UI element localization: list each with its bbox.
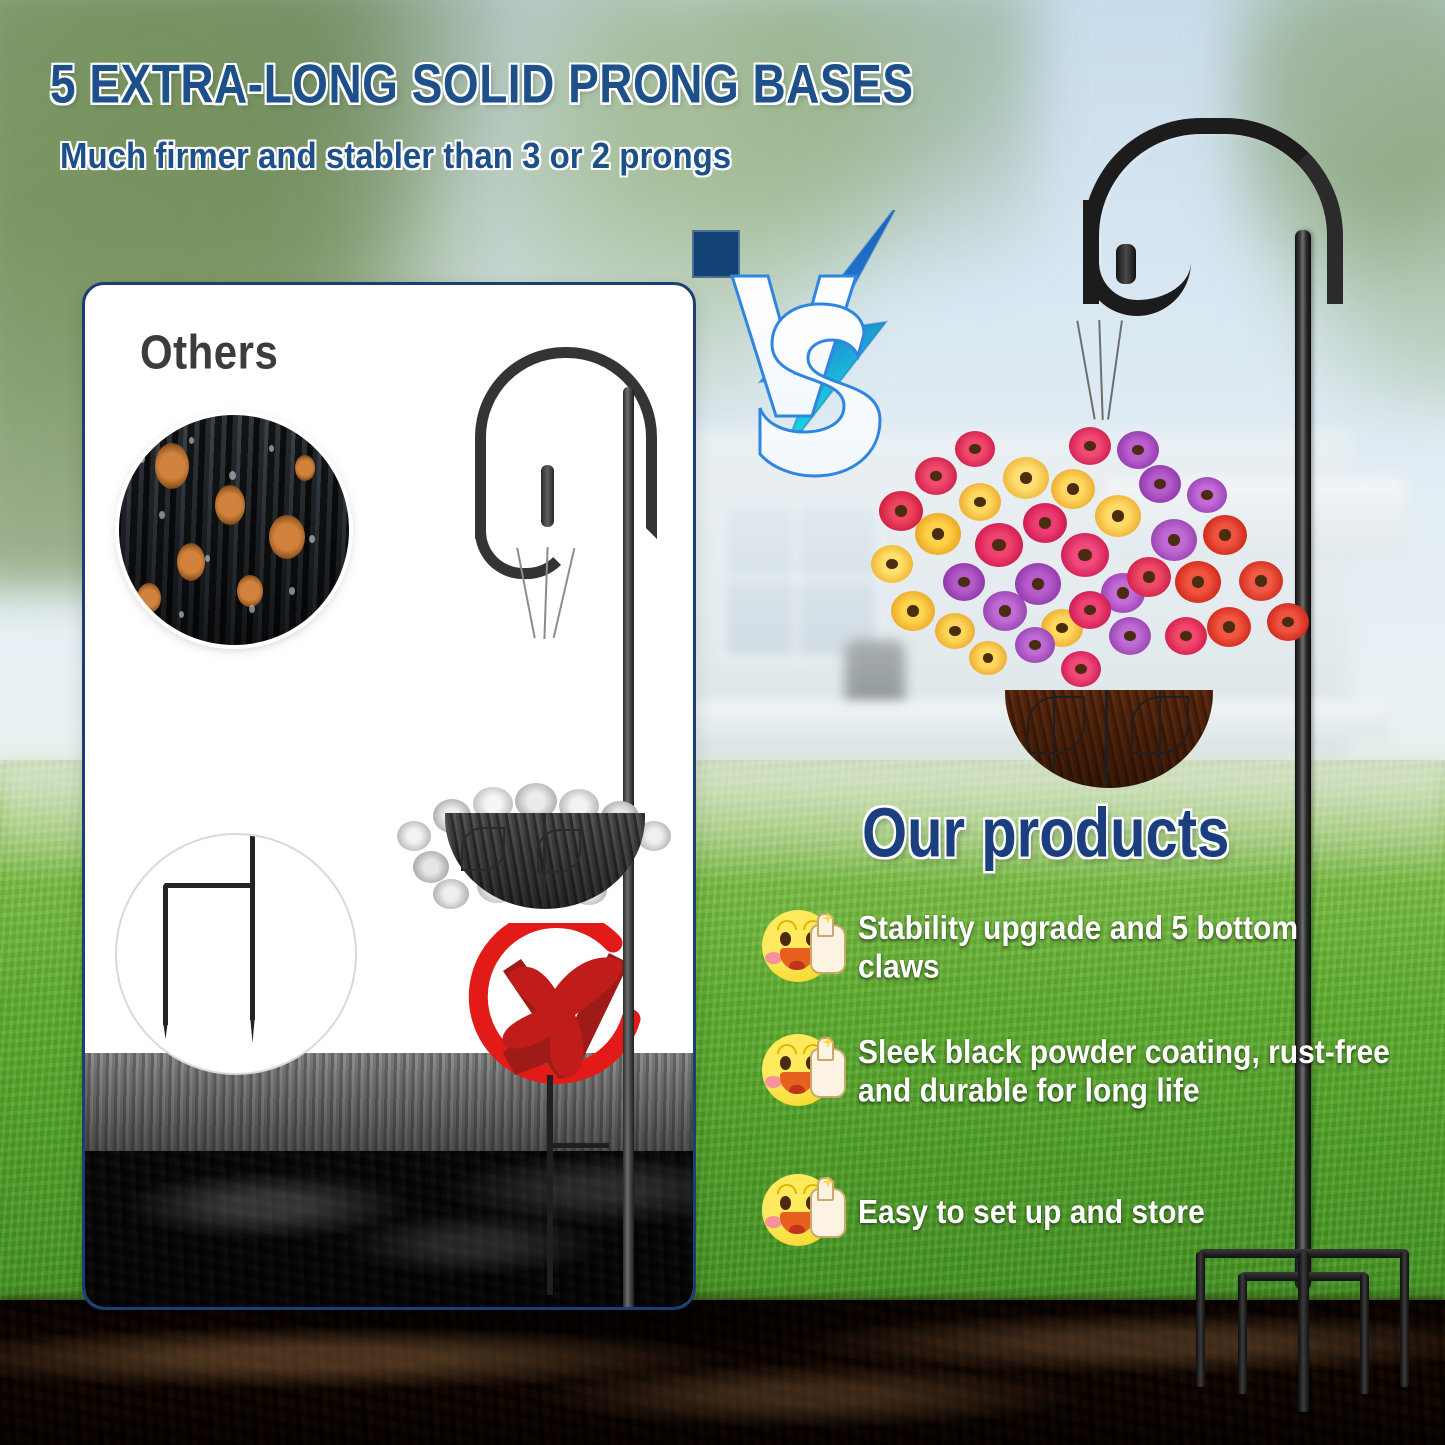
- prong-3-center: [1298, 1252, 1309, 1412]
- feature-item-3: Easy to set up and store: [762, 1172, 1282, 1254]
- shepherd-hook-curve-lower: [1083, 200, 1191, 316]
- feature-text-2: Sleek black powder coating, rust-free an…: [858, 1035, 1390, 1112]
- feature-item-2: Sleek black powder coating, rust-free an…: [762, 1032, 1402, 1114]
- prong-4: [1360, 1274, 1369, 1394]
- feature-text-1: Stability upgrade and 5 bottom claws: [858, 911, 1382, 988]
- prong-5: [1400, 1252, 1409, 1387]
- shepherd-hook-tip: [1116, 244, 1136, 284]
- rusty-rods-inset: [119, 415, 349, 645]
- shepherd-hook-pole: [1295, 230, 1311, 1290]
- our-products-title: Our products: [862, 793, 1229, 873]
- page-subheadline: Much firmer and stabler than 3 or 2 pron…: [60, 135, 960, 177]
- others-panel-title: Others: [140, 325, 278, 380]
- page-headline: 5 EXTRA-LONG SOLID PRONG BASES: [50, 52, 950, 116]
- smiley-thumbs-up-icon: [762, 1172, 844, 1254]
- flower-arrangement: [855, 395, 1375, 725]
- product-infographic: 5 EXTRA-LONG SOLID PRONG BASES Much firm…: [0, 0, 1445, 1445]
- others-shepherd-hook: [365, 325, 695, 1310]
- others-comparison-panel: Others: [82, 282, 696, 1310]
- prong-1: [1196, 1252, 1205, 1387]
- smiley-thumbs-up-icon: [762, 1032, 844, 1114]
- feature-item-1: Stability upgrade and 5 bottom claws: [762, 908, 1382, 990]
- soil-background: [0, 1300, 1445, 1445]
- smiley-thumbs-up-icon: [762, 908, 844, 990]
- two-prong-stake-inset: [115, 833, 357, 1075]
- feature-text-3: Easy to set up and store: [858, 1194, 1205, 1232]
- prong-2: [1238, 1274, 1247, 1394]
